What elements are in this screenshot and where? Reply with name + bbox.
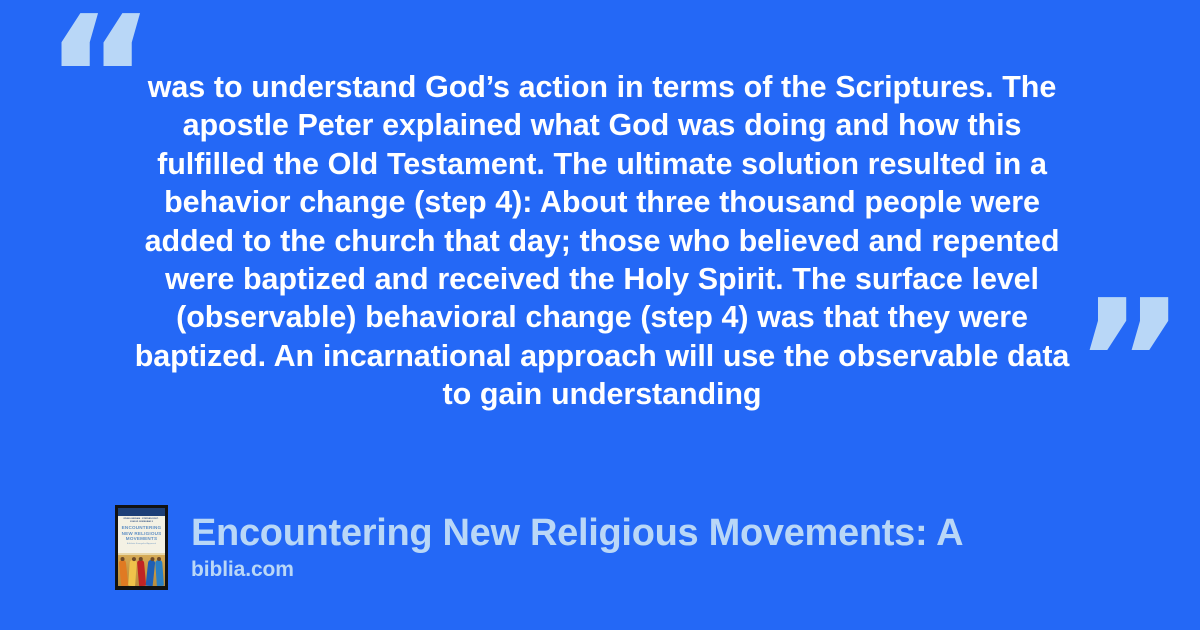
dancer-figure xyxy=(119,560,129,586)
dancer-figure xyxy=(137,560,146,586)
quote-text: was to understand God’s action in terms … xyxy=(128,68,1076,414)
quote-card: “ was to understand God’s action in term… xyxy=(0,0,1200,630)
dancer-figure xyxy=(146,560,156,586)
dancer-figure xyxy=(155,560,164,586)
footer-text-block: Encountering New Religious Movements: A … xyxy=(191,505,963,583)
book-cover-thumbnail: IRVING HEXHAM · STEPHEN ROST · JOHN W. M… xyxy=(115,505,168,590)
cover-subtitle: A Holistic Evangelical Approach xyxy=(120,543,163,546)
site-name: biblia.com xyxy=(191,557,963,583)
cover-title-text: Encountering New Religious Movements xyxy=(122,525,162,541)
cover-title: Encountering New Religious Movements A H… xyxy=(118,524,165,553)
dancer-figure xyxy=(128,560,137,586)
cover-top-band xyxy=(118,508,165,516)
close-quote-icon: ” xyxy=(1074,278,1186,448)
book-cover-art: IRVING HEXHAM · STEPHEN ROST · JOHN W. M… xyxy=(118,508,165,586)
cover-authors: IRVING HEXHAM · STEPHEN ROST · JOHN W. M… xyxy=(118,516,165,524)
footer: IRVING HEXHAM · STEPHEN ROST · JOHN W. M… xyxy=(115,505,963,590)
cover-illustration xyxy=(118,553,165,586)
book-title: Encountering New Religious Movements: A xyxy=(191,511,963,555)
